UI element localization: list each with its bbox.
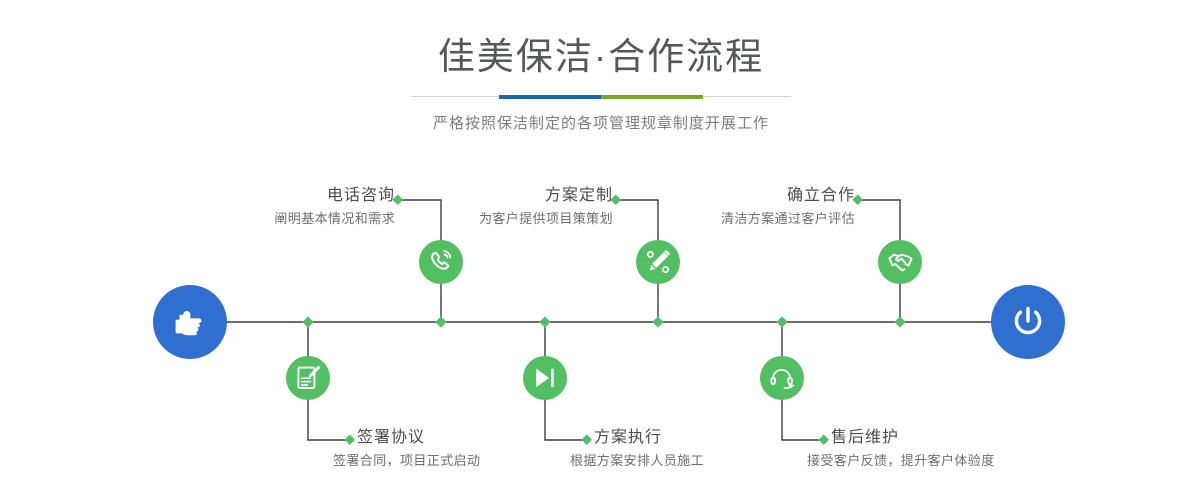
flow-start-node[interactable] [153, 285, 227, 359]
flow-step-label-1: 电话咨询 阐明基本情况和需求 [150, 186, 395, 228]
flow-step-title-2: 签署协议 [357, 428, 480, 448]
flow-step-label-6: 售后维护 接受客户反馈，提升客户体验度 [831, 428, 995, 470]
document-pen-icon [295, 365, 321, 391]
flow-step-label-5: 确立合作 清洁方案通过客户评估 [610, 186, 855, 228]
flow-step-title-6: 售后维护 [831, 428, 995, 448]
flow-step-node-3[interactable] [636, 240, 680, 284]
play-execute-icon [532, 365, 558, 391]
flow-step-title-1: 电话咨询 [150, 186, 395, 206]
flow-step-desc-2: 签署合同，项目正式启动 [333, 451, 480, 470]
handshake-icon [887, 249, 914, 276]
spine-marker-1 [302, 316, 313, 327]
flow-step-desc-1: 阐明基本情况和需求 [150, 209, 395, 228]
pointing-hand-icon [170, 302, 210, 342]
flow-step-label-3: 方案定制 为客户提供项目策策划 [370, 186, 613, 228]
flow-step-node-4[interactable] [523, 356, 567, 400]
flow-step-node-1[interactable] [419, 240, 463, 284]
flow-end-node[interactable] [991, 285, 1065, 359]
spine-marker-4 [652, 316, 663, 327]
flow-step-desc-6: 接受客户反馈，提升客户体验度 [807, 451, 995, 470]
customer-service-icon [769, 365, 795, 391]
flow-connectors [0, 0, 1202, 502]
spine-marker-6 [894, 316, 905, 327]
flow-step-title-3: 方案定制 [370, 186, 613, 206]
flow-step-title-5: 确立合作 [610, 186, 855, 206]
label-marker-2 [344, 434, 355, 445]
flow-step-node-6[interactable] [760, 356, 804, 400]
flow-step-node-5[interactable] [878, 240, 922, 284]
spine-marker-5 [776, 316, 787, 327]
flow-step-desc-3: 为客户提供项目策策划 [370, 209, 613, 228]
spine-marker-2 [435, 316, 446, 327]
label-marker-4 [581, 434, 592, 445]
pencil-compass-icon [645, 249, 671, 275]
label-marker-6 [818, 434, 829, 445]
flow-step-title-4: 方案执行 [594, 428, 704, 448]
flow-step-desc-4: 根据方案安排人员施工 [570, 451, 704, 470]
flow-step-label-2: 签署协议 签署合同，项目正式启动 [357, 428, 480, 470]
spine-marker-3 [539, 316, 550, 327]
flow-step-node-2[interactable] [286, 356, 330, 400]
phone-call-icon [428, 249, 454, 275]
process-flow-diagram: 电话咨询 阐明基本情况和需求 方案定制 为客户提供项目策策划 确立合作 清洁方案… [0, 0, 1202, 502]
flow-step-desc-5: 清洁方案通过客户评估 [610, 209, 855, 228]
flow-step-label-4: 方案执行 根据方案安排人员施工 [594, 428, 704, 470]
power-icon [1007, 301, 1049, 343]
